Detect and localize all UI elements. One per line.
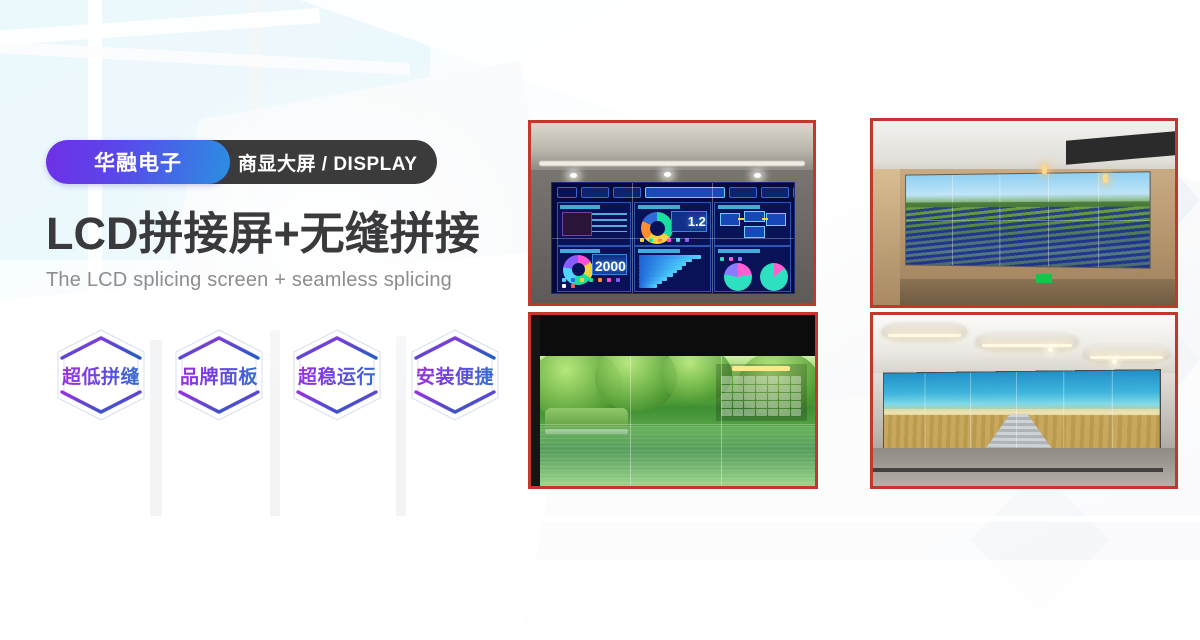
photo-scene: [531, 315, 815, 486]
product-photo-lake-wall: [528, 312, 818, 489]
product-photo-beach-wall: [870, 312, 1178, 489]
video-wall-screen: [905, 171, 1150, 268]
headline-block: 商显大屏 / DISPLAY 华融电子 LCD拼接屏+无缝拼接 The LCD …: [46, 140, 526, 434]
video-wall-screen: [883, 370, 1161, 456]
photo-scene: [873, 315, 1175, 486]
feature-label: 安装便捷: [416, 362, 494, 389]
page-title: LCD拼接屏+无缝拼接: [46, 210, 526, 257]
video-wall-screen: [540, 356, 815, 486]
dashboard-stat-value-2: 2000: [595, 258, 626, 274]
product-photo-dashboard: 1.2: [528, 120, 816, 306]
feature-list: 超低拼缝 品牌面板 超稳运行: [42, 316, 526, 434]
photo-scene: 1.2: [531, 123, 813, 303]
page-subtitle: The LCD splicing screen + seamless splic…: [46, 269, 526, 292]
feature-label: 品牌面板: [180, 362, 258, 389]
dashboard-stat-value: 1.2: [688, 214, 706, 229]
product-banner: 商显大屏 / DISPLAY 华融电子 LCD拼接屏+无缝拼接 The LCD …: [0, 0, 1200, 640]
feature-label: 超低拼缝: [62, 362, 140, 389]
dashboard-screen: 1.2: [551, 182, 796, 294]
photo-scene: [873, 121, 1175, 305]
feature-badge-4: 安装便捷: [396, 316, 514, 434]
feature-badge-2: 品牌面板: [160, 316, 278, 434]
product-photo-solar-wall: [870, 118, 1178, 308]
feature-label: 超稳运行: [298, 362, 376, 389]
calendar-overlay: [716, 364, 807, 421]
brand-badge: 华融电子: [46, 140, 230, 184]
feature-badge-1: 超低拼缝: [42, 316, 160, 434]
feature-badge-3: 超稳运行: [278, 316, 396, 434]
brand-badge-row: 商显大屏 / DISPLAY 华融电子: [46, 140, 526, 184]
